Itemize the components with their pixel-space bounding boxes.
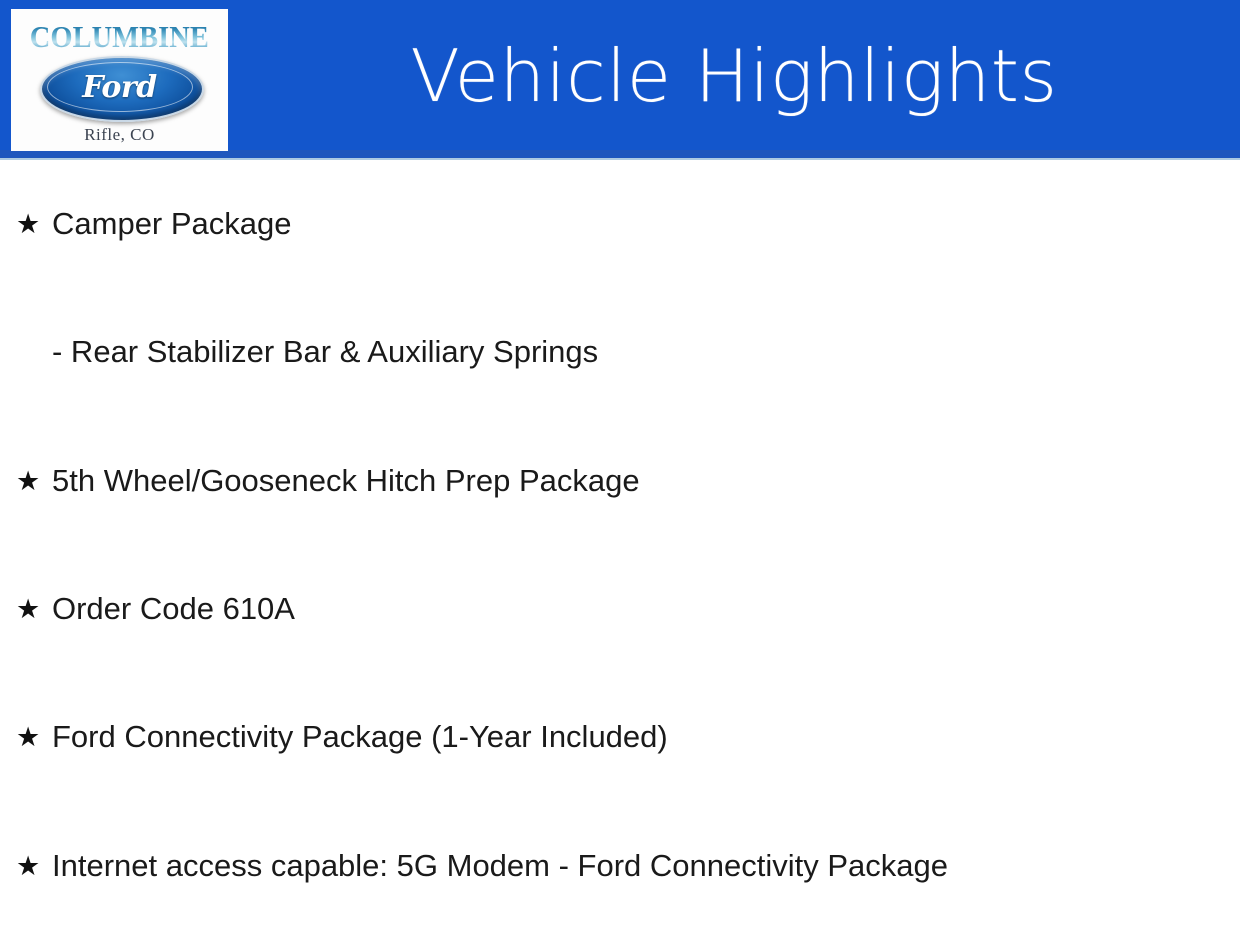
dealer-name-text: COLUMBINE: [30, 21, 209, 52]
ford-wordmark: Ford: [40, 56, 200, 118]
list-item-label: Internet access capable: 5G Modem - Ford…: [52, 848, 948, 884]
star-icon: ★: [14, 853, 52, 880]
list-item-label: Ford Connectivity Package (1-Year Includ…: [52, 719, 668, 755]
list-item: ★ 5th Wheel/Gooseneck Hitch Prep Package: [14, 457, 1224, 505]
star-icon: ★: [14, 596, 52, 623]
list-item-label: Order Code 610A: [52, 591, 295, 627]
ford-oval-icon: Ford: [40, 56, 200, 118]
highlights-list: ★ Camper Package ★ - Rear Stabilizer Bar…: [0, 160, 1240, 930]
star-icon: ★: [14, 724, 52, 751]
list-item-label: - Rear Stabilizer Bar & Auxiliary Spring…: [52, 334, 598, 370]
page-title: Vehicle Highlights: [228, 0, 1240, 152]
star-icon: ★: [14, 468, 52, 495]
list-item: ★ - Rear Stabilizer Bar & Auxiliary Spri…: [14, 328, 1224, 376]
list-item: ★ Order Code 610A: [14, 585, 1224, 633]
dealer-logo[interactable]: COLUMBINE Ford Rifle, CO: [11, 9, 228, 151]
star-icon: ★: [14, 211, 52, 238]
list-item-label: 5th Wheel/Gooseneck Hitch Prep Package: [52, 463, 640, 499]
list-item: ★ Internet access capable: 5G Modem - Fo…: [14, 842, 1224, 890]
list-item: ★ Camper Package: [14, 200, 1224, 248]
list-item-label: Camper Package: [52, 206, 292, 242]
list-item: ★ Ford Connectivity Package (1-Year Incl…: [14, 713, 1224, 761]
dealer-location-text: Rifle, CO: [84, 125, 155, 145]
